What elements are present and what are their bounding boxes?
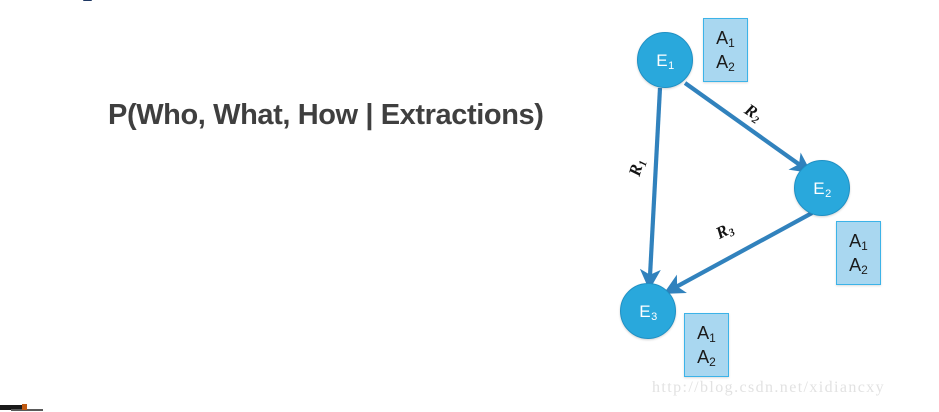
edge-r2-e1-to-e2 xyxy=(685,83,800,165)
attribute-box-e1: A1 A2 xyxy=(703,18,748,82)
edge-r1-e1-to-e3 xyxy=(650,88,660,276)
attribute-a2: A2 xyxy=(849,256,868,274)
entity-node-label: E1 xyxy=(656,52,673,69)
edge-r3-e2-to-e3 xyxy=(676,213,812,287)
attribute-a1: A1 xyxy=(697,324,716,342)
attribute-a2: A2 xyxy=(716,53,735,71)
attribute-a1: A1 xyxy=(716,29,735,47)
relation-graph-edges xyxy=(0,0,939,412)
entity-node-label: E3 xyxy=(639,303,656,320)
entity-node-e1[interactable]: E1 xyxy=(637,32,693,88)
clipped-artifact-bottom-rule xyxy=(11,409,43,411)
slide-canvas: P(Who, What, How | Extractions) A1 A2 A1… xyxy=(0,0,939,412)
entity-node-label: E2 xyxy=(813,180,830,197)
entity-node-e3[interactable]: E3 xyxy=(620,283,676,339)
attribute-a1: A1 xyxy=(849,232,868,250)
attribute-box-e3: A1 A2 xyxy=(684,313,729,377)
watermark-text: http://blog.csdn.net/xidiancxy xyxy=(652,379,885,397)
clipped-artifact-bottom-mark xyxy=(22,404,27,410)
attribute-box-e2: A1 A2 xyxy=(836,221,881,285)
entity-node-e2[interactable]: E2 xyxy=(794,160,850,216)
attribute-a2: A2 xyxy=(697,348,716,366)
